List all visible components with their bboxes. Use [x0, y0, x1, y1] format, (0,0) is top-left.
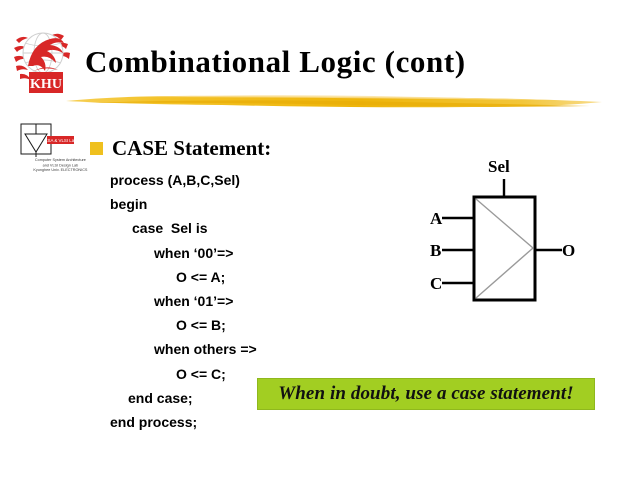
- department-lab-logo: CSA & VLSI Lab Computer System Architect…: [14, 122, 78, 178]
- code-line: O <= B;: [110, 313, 310, 337]
- khu-emblem-icon: KHU: [12, 26, 78, 94]
- mux-input-label-b: B: [430, 241, 441, 261]
- callout-text: When in doubt, use a case statement!: [278, 383, 574, 405]
- code-line: process (A,B,C,Sel): [110, 168, 310, 192]
- khu-university-logo: KHU: [12, 26, 78, 94]
- section-heading: CASE Statement:: [112, 136, 271, 161]
- dept-badge-text: CSA & VLSI Lab: [44, 138, 77, 143]
- callout-box: When in doubt, use a case statement!: [257, 378, 595, 410]
- slide-canvas: KHU Combinational Logic (cont): [0, 0, 640, 480]
- bullet-square-icon: [90, 142, 103, 155]
- mux-symbol-icon: [410, 150, 610, 320]
- khu-wordmark: KHU: [30, 77, 62, 92]
- mux-output-label: O: [562, 241, 575, 261]
- code-line: O <= A;: [110, 265, 310, 289]
- dept-emblem-icon: CSA & VLSI Lab: [14, 122, 78, 160]
- mux-input-label-a: A: [430, 209, 442, 229]
- code-line: when others =>: [110, 337, 310, 361]
- brushstroke-icon: [64, 90, 604, 109]
- multiplexer-diagram: [410, 150, 610, 320]
- code-line: when ‘01’=>: [110, 289, 310, 313]
- mux-select-label: Sel: [488, 157, 510, 177]
- title-underline-brushstroke: [64, 90, 604, 109]
- dept-logo-caption: Computer System Architecture and VLSI De…: [14, 158, 107, 174]
- code-line: case Sel is: [110, 216, 310, 240]
- page-title: Combinational Logic (cont): [85, 46, 605, 77]
- mux-input-label-c: C: [430, 274, 442, 294]
- code-line: end process;: [110, 410, 310, 434]
- code-line: when ‘00’=>: [110, 241, 310, 265]
- code-line: begin: [110, 192, 310, 216]
